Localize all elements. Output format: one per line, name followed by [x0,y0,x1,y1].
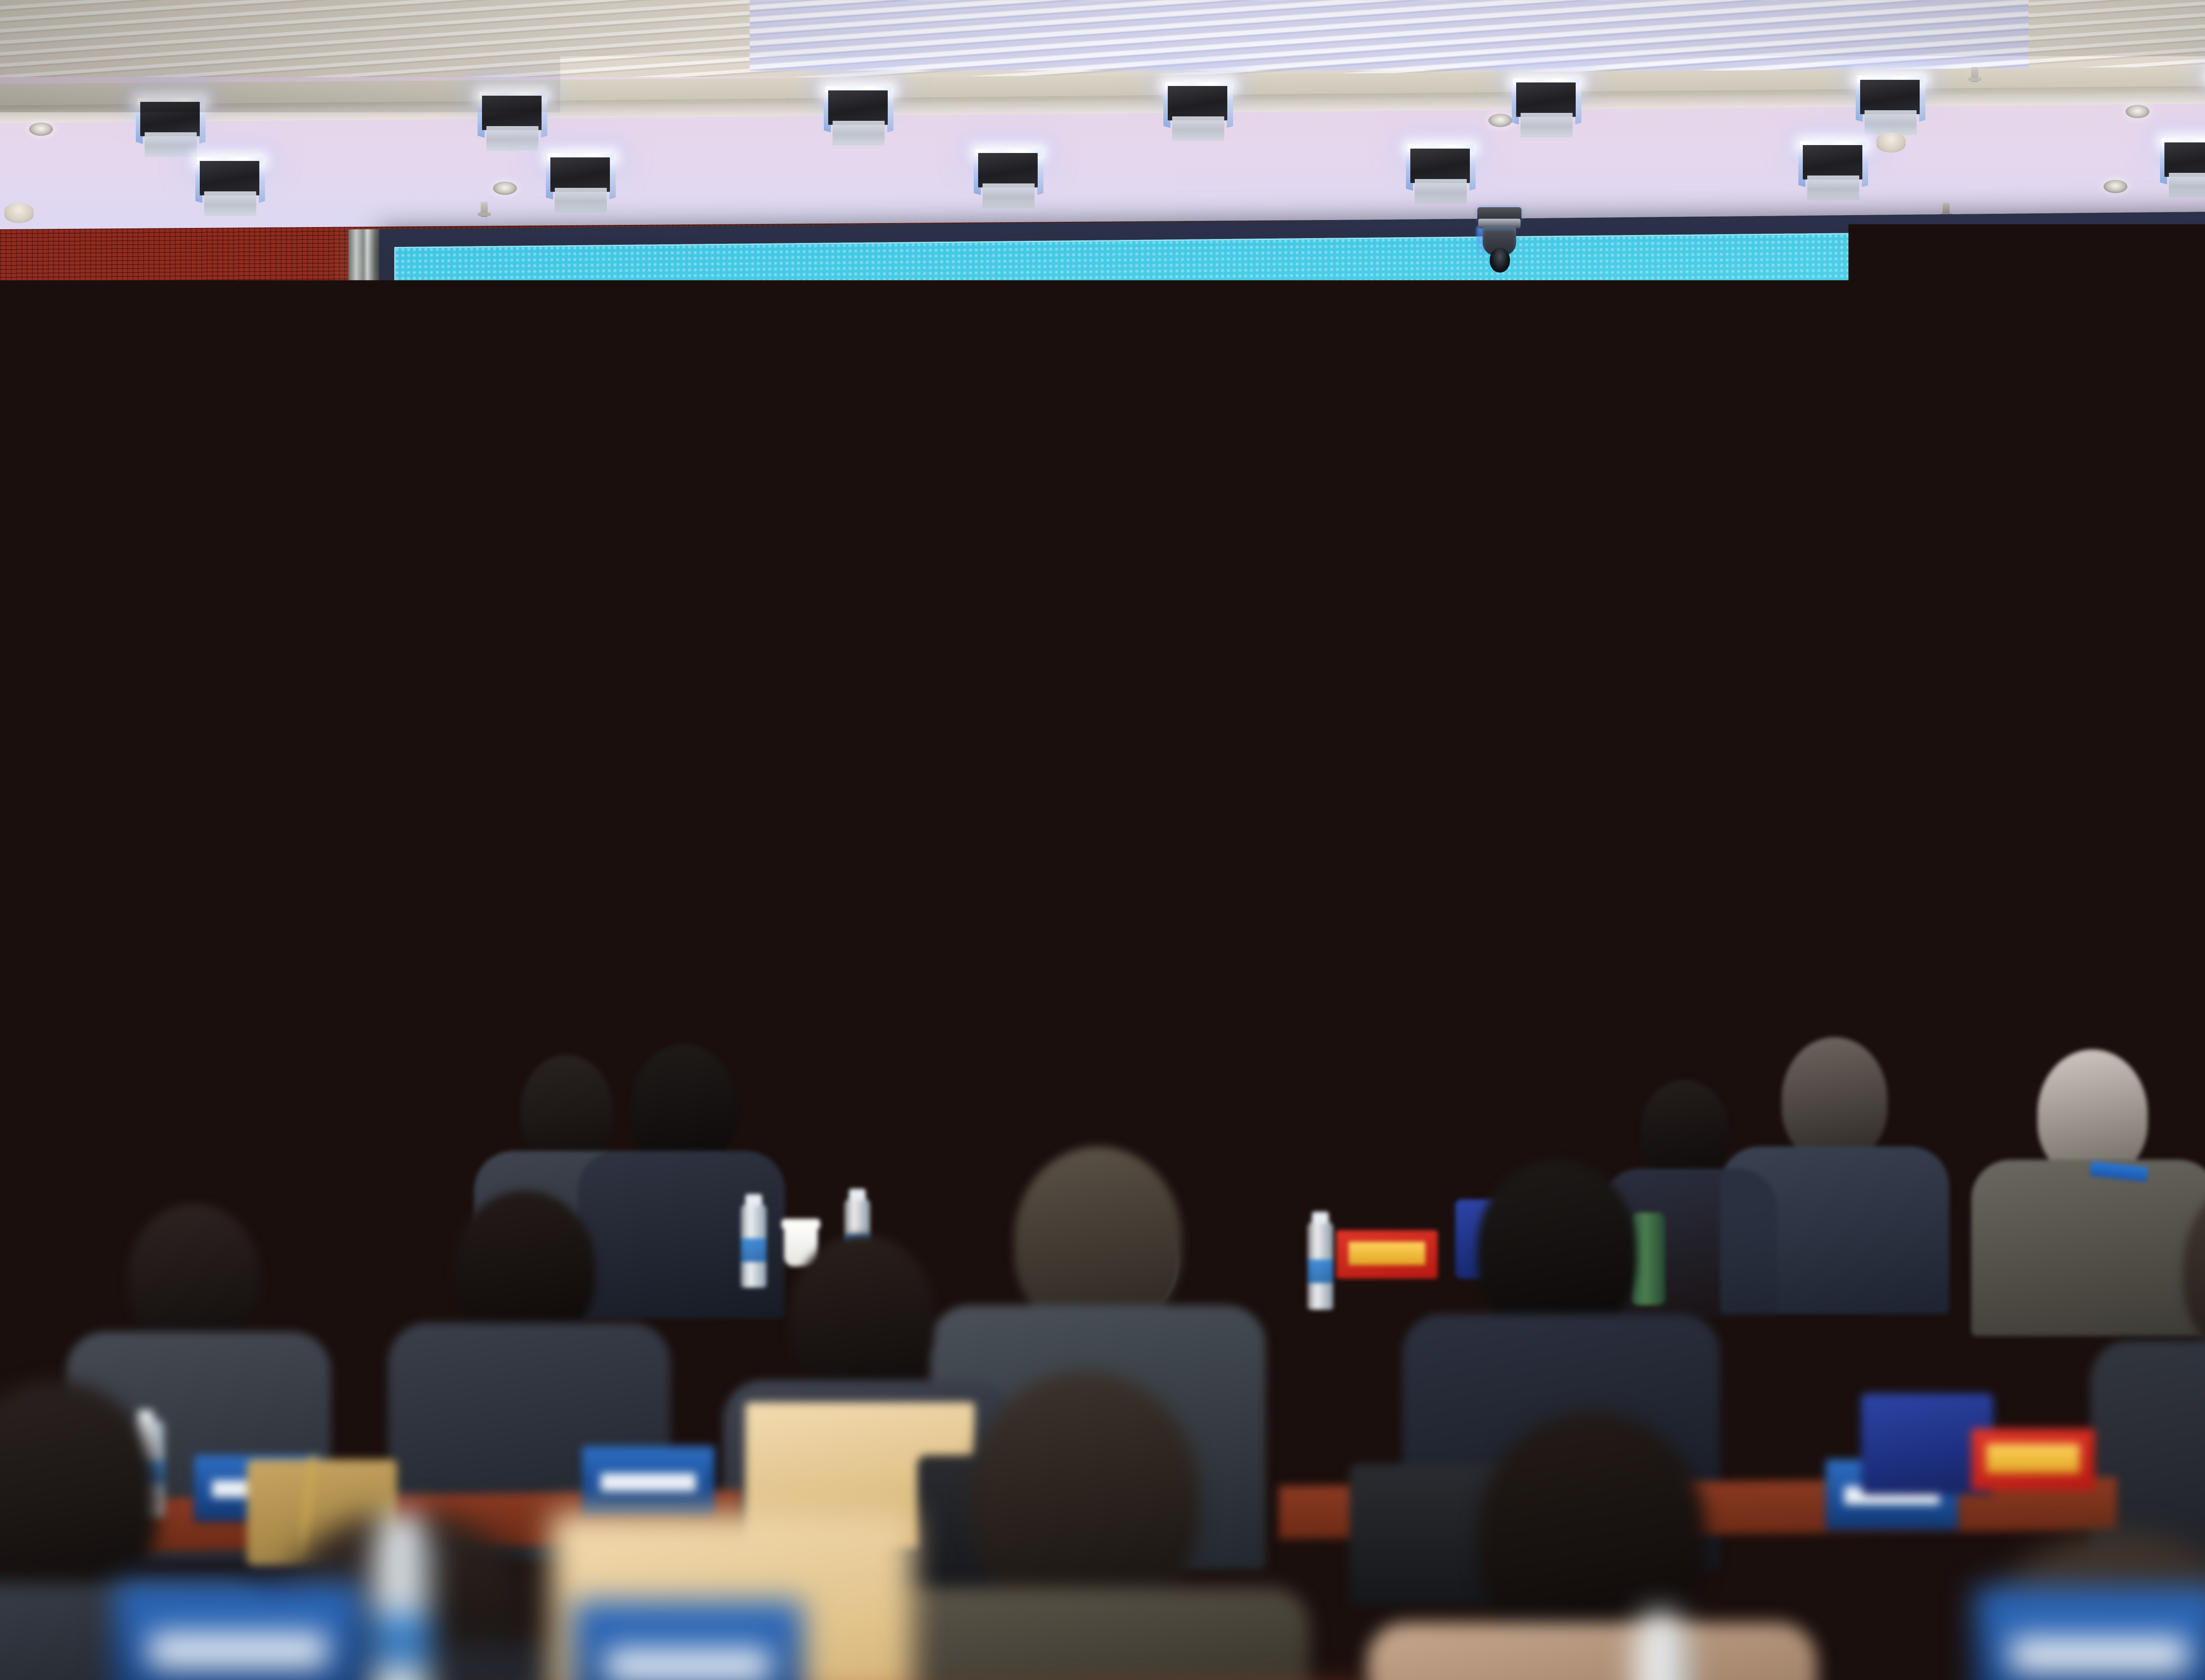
downlight-icon [493,182,517,195]
flower-pink-rose [265,880,316,928]
downlight-icon [29,123,53,136]
slide-title-line-2-text: 年发展情况的回顾及 [770,521,1468,612]
audience [0,1014,2205,1680]
thermos [1632,1213,1665,1305]
flower-white [415,924,457,956]
flower-red [132,981,170,1017]
slide-title-line-2: 2023 年发展情况的回顾及 [562,504,2205,623]
sprinkler-icon [1971,67,1978,82]
flower-pink-rose [212,889,260,935]
downlight-icon [1488,114,1512,127]
flower-red [278,968,317,1006]
flower-red [423,963,460,1000]
flower-lily [185,950,241,989]
slide-year-2023: 2023 [562,528,746,614]
smoke-detector-icon [1876,132,1906,153]
sprinkler-icon [481,202,488,217]
ceiling-slats-lit [750,0,2029,71]
downlight-icon [2104,180,2127,193]
ptz-camera-icon [1473,207,1526,282]
flower-lily [234,928,291,966]
downlight-icon [2126,105,2149,118]
flower-lily [309,933,362,970]
speaker-ear [346,803,356,823]
ceiling [0,0,2205,247]
slide-title-line-1: 关于建筑幕墙行业 [562,403,2205,522]
smoke-detector-icon [4,203,34,223]
speaker-ear [412,803,422,823]
conference-photo: 关于建筑幕墙行业 2023 年发展情况的回顾及 2024 年国家宏观经济趋势的展… [0,0,2205,1680]
